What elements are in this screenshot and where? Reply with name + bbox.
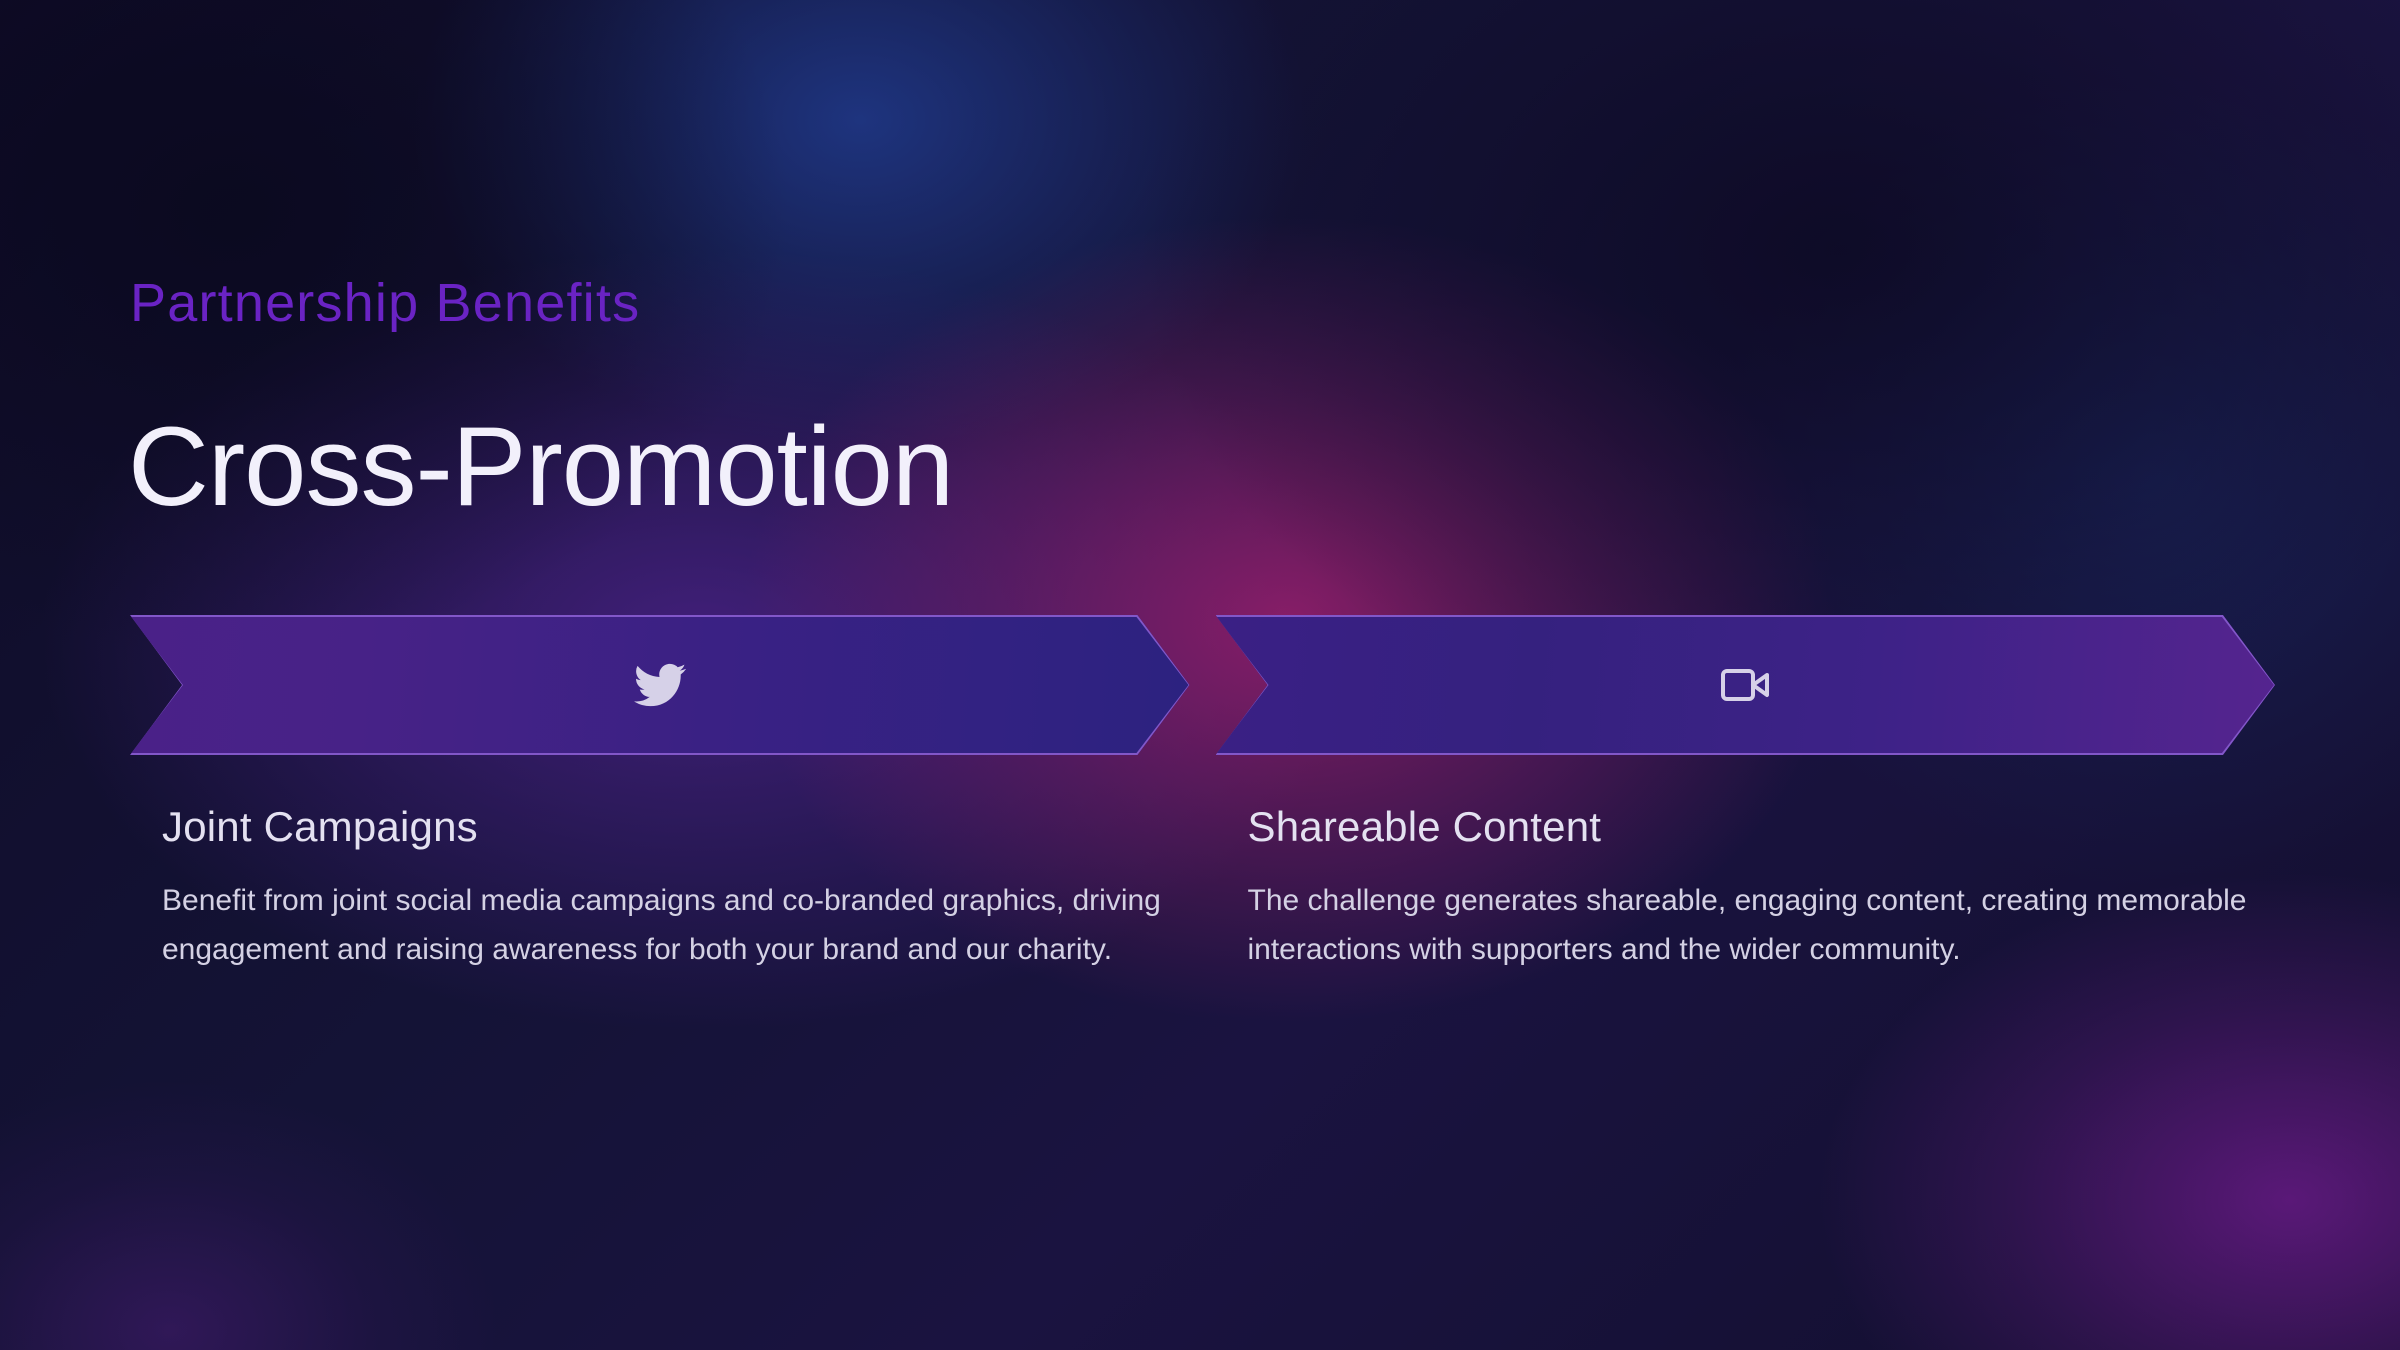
benefit-card-shareable-content: Shareable Content The challenge generate… xyxy=(1216,615,2276,974)
benefit-card-joint-campaigns: Joint Campaigns Benefit from joint socia… xyxy=(130,615,1190,974)
card-body: Joint Campaigns Benefit from joint socia… xyxy=(130,755,1190,974)
slide-stage: Partnership Benefits Cross-Promotion Joi… xyxy=(0,0,2400,1350)
card-description: The challenge generates shareable, engag… xyxy=(1248,877,2258,974)
card-chevron-banner xyxy=(130,615,1190,755)
slide-content: Partnership Benefits Cross-Promotion Joi… xyxy=(130,0,2275,1350)
benefit-card-grid: Joint Campaigns Benefit from joint socia… xyxy=(130,615,2275,974)
card-chevron-banner xyxy=(1216,615,2276,755)
section-eyebrow: Partnership Benefits xyxy=(130,272,640,334)
page-title: Cross-Promotion xyxy=(128,410,953,524)
card-heading: Shareable Content xyxy=(1248,803,2274,851)
card-description: Benefit from joint social media campaign… xyxy=(162,877,1162,974)
twitter-bird-icon xyxy=(632,657,688,713)
card-heading: Joint Campaigns xyxy=(162,803,1188,851)
card-body: Shareable Content The challenge generate… xyxy=(1216,755,2276,974)
video-camera-icon xyxy=(1717,657,1773,713)
